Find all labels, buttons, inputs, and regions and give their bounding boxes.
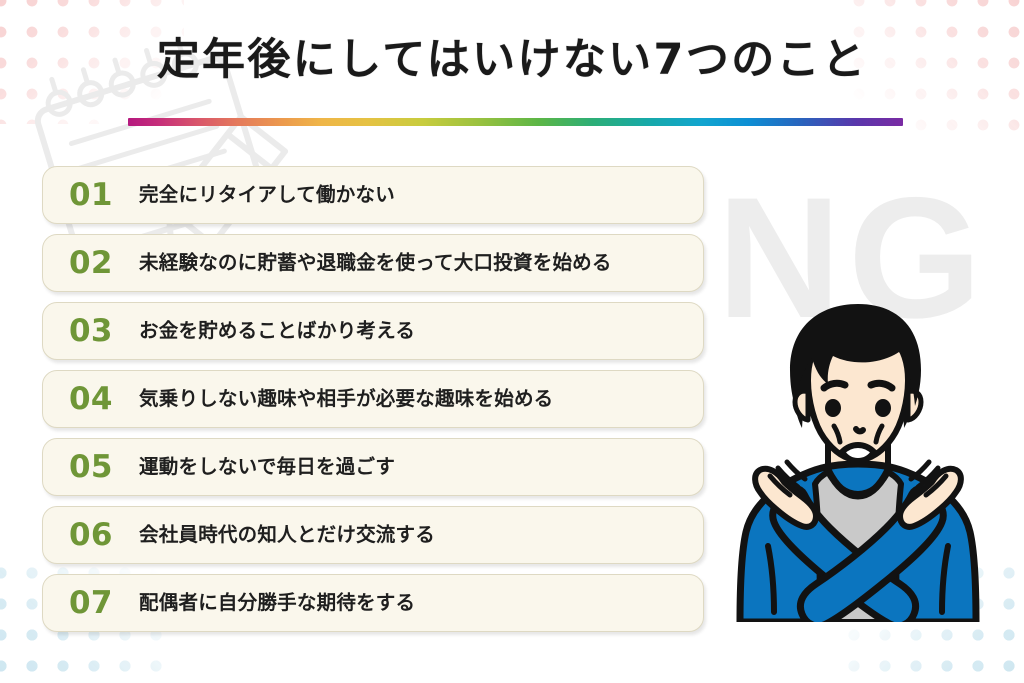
list-item[interactable]: 02 未経験なのに貯蓄や退職金を使って大口投資を始める — [42, 234, 704, 292]
list-item-number: 04 — [69, 384, 131, 415]
list-item[interactable]: 05 運動をしないで毎日を過ごす — [42, 438, 704, 496]
man-crossing-arms-illustration — [724, 296, 992, 622]
title-gradient-rule — [128, 118, 903, 126]
list-item-number: 05 — [69, 452, 131, 483]
ng-list: 01 完全にリタイアして働かない 02 未経験なのに貯蓄や退職金を使って大口投資… — [42, 166, 704, 632]
page-title: 定年後にしてはいけない7つのこと — [0, 36, 1024, 85]
infographic-canvas: 定年後にしてはいけない7つのこと NG 01 完全にリタイアして働かない 02 … — [0, 0, 1024, 683]
title-block: 定年後にしてはいけない7つのこと — [0, 36, 1024, 85]
list-item-number: 01 — [69, 180, 131, 211]
list-item[interactable]: 01 完全にリタイアして働かない — [42, 166, 704, 224]
list-item-label: 未経験なのに貯蓄や退職金を使って大口投資を始める — [139, 251, 612, 275]
list-item-label: 運動をしないで毎日を過ごす — [139, 455, 395, 479]
list-item[interactable]: 06 会社員時代の知人とだけ交流する — [42, 506, 704, 564]
list-item-number: 07 — [69, 588, 131, 619]
list-item-label: 完全にリタイアして働かない — [139, 183, 395, 207]
list-item-number: 02 — [69, 248, 131, 279]
list-item[interactable]: 03 お金を貯めることばかり考える — [42, 302, 704, 360]
list-item-label: 会社員時代の知人とだけ交流する — [139, 523, 435, 547]
list-item-number: 06 — [69, 520, 131, 551]
list-item-label: 気乗りしない趣味や相手が必要な趣味を始める — [139, 387, 553, 411]
list-item-label: お金を貯めることばかり考える — [139, 319, 415, 343]
list-item[interactable]: 04 気乗りしない趣味や相手が必要な趣味を始める — [42, 370, 704, 428]
list-item-number: 03 — [69, 316, 131, 347]
list-item-label: 配偶者に自分勝手な期待をする — [139, 591, 415, 615]
list-item[interactable]: 07 配偶者に自分勝手な期待をする — [42, 574, 704, 632]
